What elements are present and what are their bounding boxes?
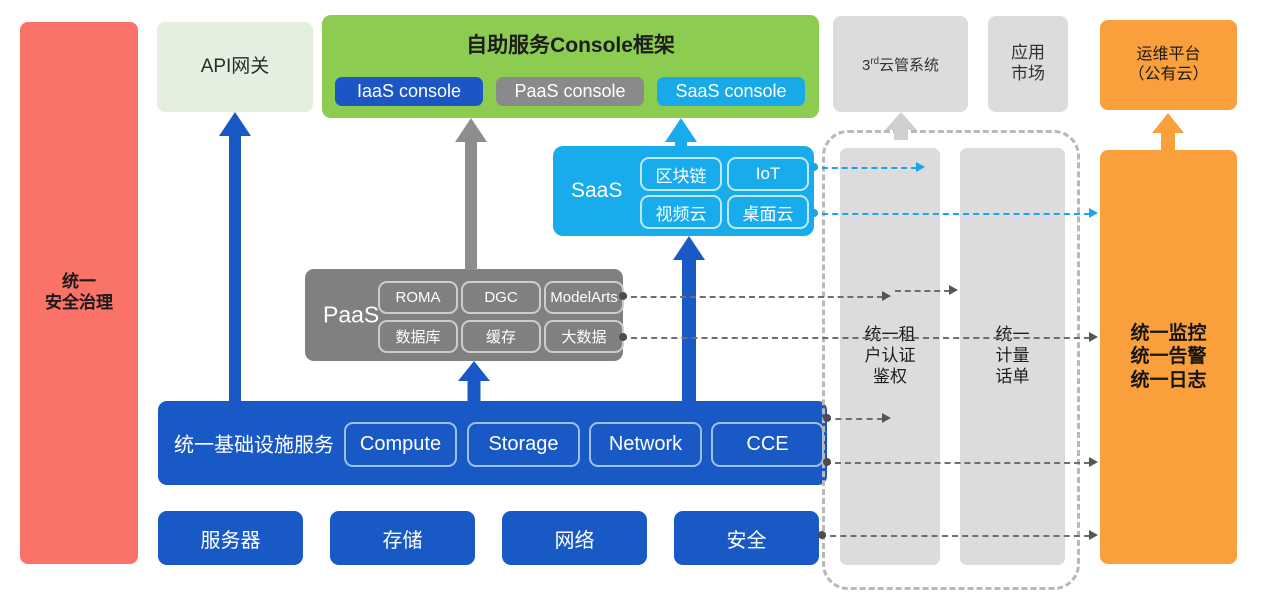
third-party-superscript: rd	[870, 56, 879, 67]
dashed-paas-to-tenant-auth	[621, 296, 883, 298]
arrow-paas-to-console	[455, 118, 487, 270]
infra-item-storage-label: Storage	[488, 433, 558, 456]
paas-item-database-label: 数据库	[395, 326, 440, 347]
third-party-cloud-management-label: 3rd云管系统	[862, 54, 939, 75]
paas-item-roma[interactable]: ROMA	[378, 281, 458, 314]
saas-item-desktop-cloud[interactable]: 桌面云	[727, 195, 809, 229]
ops-platform-public-cloud-box: 运维平台 （公有云）	[1100, 20, 1237, 110]
unified-security-governance-panel: 统一 安全治理	[20, 22, 138, 564]
saas-layer-label: SaaS	[571, 179, 622, 203]
dashed-tenant-auth-to-metering	[895, 290, 950, 292]
arrowhead-saas-to-tenant-auth	[916, 162, 925, 172]
paas-item-modelarts-label: ModelArts	[550, 289, 618, 306]
app-market-label: 应用 市场	[1011, 43, 1045, 84]
resource-box-network-label: 网络	[555, 524, 595, 553]
dashed-dot-resources-row	[818, 531, 826, 539]
dashed-infra-to-tenant-auth	[825, 418, 883, 420]
arrow-infra-to-api-gateway	[219, 112, 251, 402]
arrowhead-paas-to-ops-panel	[1089, 332, 1098, 342]
paas-item-bigdata-label: 大数据	[561, 326, 606, 347]
saas-item-blockchain-label: 区块链	[656, 162, 707, 187]
third-party-suffix: 云管系统	[879, 57, 939, 74]
dashed-paas-to-ops-panel	[621, 337, 1090, 339]
saas-item-blockchain[interactable]: 区块链	[640, 157, 722, 191]
api-gateway-label: API网关	[201, 55, 270, 78]
dashed-dot-infra-row1	[823, 414, 831, 422]
infra-item-cce-label: CCE	[746, 433, 788, 456]
dashed-dot-saas-row1	[810, 163, 818, 171]
saas-console-chip[interactable]: SaaS console	[657, 77, 805, 106]
arrow-infra-to-paas	[458, 361, 490, 402]
paas-item-dgc-label: DGC	[484, 289, 517, 306]
unified-tenant-auth-label: 统一租 户认证 鉴权	[865, 325, 916, 387]
resource-box-storage: 存储	[330, 511, 475, 565]
ops-platform-public-cloud-label: 运维平台 （公有云）	[1128, 45, 1208, 84]
arrowhead-tenant-auth-to-metering	[949, 285, 958, 295]
dashed-dot-paas-row2	[619, 333, 627, 341]
dashed-dot-infra-row2	[823, 458, 831, 466]
unified-metering-billing-label: 统一 计量 话单	[996, 325, 1030, 387]
dashed-saas-to-tenant-auth	[812, 167, 917, 169]
unified-infrastructure-service-bar: 统一基础设施服务 Compute Storage Network CCE	[158, 401, 827, 485]
self-service-console-frame: 自助服务Console框架 IaaS console PaaS console …	[322, 15, 819, 118]
iaas-console-label: IaaS console	[357, 81, 461, 102]
saas-item-iot[interactable]: IoT	[727, 157, 809, 191]
paas-item-dgc[interactable]: DGC	[461, 281, 541, 314]
arrow-shared-to-third-party	[885, 112, 917, 140]
paas-console-label: PaaS console	[514, 81, 625, 102]
app-market-box: 应用 市场	[988, 16, 1068, 112]
arrow-monitoring-to-ops-platform	[1152, 113, 1184, 151]
iaas-console-chip[interactable]: IaaS console	[335, 77, 483, 106]
resource-box-security: 安全	[674, 511, 819, 565]
arrowhead-saas-to-ops-panel	[1089, 208, 1098, 218]
unified-infrastructure-service-label: 统一基础设施服务	[174, 429, 334, 458]
paas-item-cache-label: 缓存	[486, 326, 516, 347]
architecture-diagram: 统一 安全治理 API网关 自助服务Console框架 IaaS console…	[0, 0, 1265, 605]
paas-console-chip[interactable]: PaaS console	[496, 77, 644, 106]
paas-item-bigdata[interactable]: 大数据	[544, 320, 624, 353]
arrowhead-resources-to-ops-panel	[1089, 530, 1098, 540]
arrowhead-infra-to-ops-panel	[1089, 457, 1098, 467]
infra-item-cce[interactable]: CCE	[711, 422, 824, 467]
saas-item-iot-label: IoT	[756, 164, 781, 184]
resource-box-security-label: 安全	[727, 524, 767, 553]
infra-item-network-label: Network	[609, 433, 682, 456]
paas-item-database[interactable]: 数据库	[378, 320, 458, 353]
arrowhead-paas-to-tenant-auth	[882, 291, 891, 301]
arrowhead-infra-to-tenant-auth	[882, 413, 891, 423]
paas-item-roma-label: ROMA	[396, 289, 441, 306]
infra-item-network[interactable]: Network	[589, 422, 702, 467]
saas-item-desktop-cloud-label: 桌面云	[743, 200, 794, 225]
infra-item-compute-label: Compute	[360, 433, 441, 456]
infra-item-compute[interactable]: Compute	[344, 422, 457, 467]
resource-box-server-label: 服务器	[201, 524, 261, 553]
unified-monitoring-label: 统一监控 统一告警 统一日志	[1130, 322, 1206, 392]
paas-item-cache[interactable]: 缓存	[461, 320, 541, 353]
api-gateway-box: API网关	[157, 22, 313, 112]
infra-item-storage[interactable]: Storage	[467, 422, 580, 467]
saas-item-video-cloud[interactable]: 视频云	[640, 195, 722, 229]
paas-layer: PaaS ROMA DGC ModelArts 数据库 缓存 大数据	[305, 269, 623, 361]
saas-layer: SaaS 区块链 IoT 视频云 桌面云	[553, 146, 814, 236]
unified-tenant-auth-column: 统一租 户认证 鉴权	[840, 148, 940, 565]
dashed-infra-to-ops-panel	[825, 462, 1090, 464]
dashed-dot-saas-row2	[810, 209, 818, 217]
paas-layer-label: PaaS	[323, 302, 379, 329]
resource-box-server: 服务器	[158, 511, 303, 565]
console-frame-title: 自助服务Console框架	[322, 29, 819, 59]
unified-monitoring-panel: 统一监控 统一告警 统一日志	[1100, 150, 1237, 564]
unified-metering-billing-column: 统一 计量 话单	[960, 148, 1065, 565]
resource-box-network: 网络	[502, 511, 647, 565]
third-party-cloud-management-box: 3rd云管系统	[833, 16, 968, 112]
resource-box-storage-label: 存储	[383, 524, 423, 553]
paas-item-modelarts[interactable]: ModelArts	[544, 281, 624, 314]
unified-security-governance-label: 统一 安全治理	[45, 272, 113, 313]
arrow-infra-to-saas	[673, 236, 705, 402]
saas-item-video-cloud-label: 视频云	[656, 200, 707, 225]
saas-console-label: SaaS console	[675, 81, 786, 102]
dashed-saas-to-ops-panel	[812, 213, 1090, 215]
dashed-dot-paas-row1	[619, 292, 627, 300]
arrow-saas-to-console	[665, 118, 697, 147]
dashed-resources-to-ops-panel	[820, 535, 1090, 537]
